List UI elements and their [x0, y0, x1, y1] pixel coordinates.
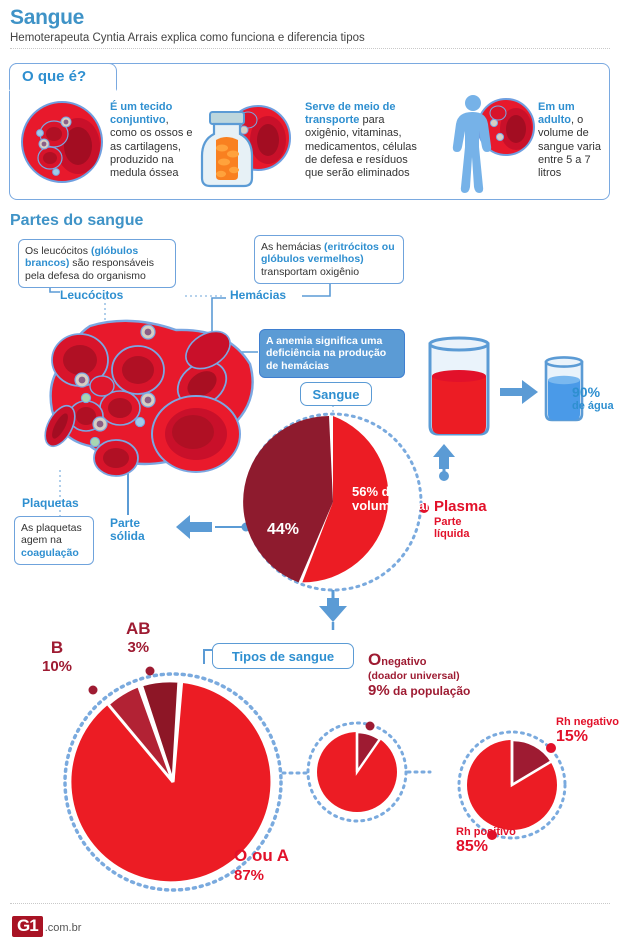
- label-type-oa: O ou A 87%: [234, 846, 289, 884]
- blood-volume-label-56: 56% do volume total: [352, 485, 432, 513]
- blood-volume-label-44: 44%: [267, 521, 299, 539]
- blood-cells-cluster-illustration: [30, 318, 266, 486]
- callout-erythrocytes: As hemácias (eritrócitos ou glóbulos ver…: [254, 235, 404, 284]
- label-o-negative-line3: 9% da população: [368, 683, 528, 699]
- label-rh-negative-value: 15%: [556, 728, 619, 746]
- label-type-ab-name: AB: [126, 619, 151, 639]
- pill-blood-types: Tipos de sangue: [212, 643, 354, 669]
- water-label: de água: [572, 400, 614, 412]
- blood-volume-value-56: 56% do volume total: [352, 484, 429, 513]
- callout-platelets: As plaquetas agem na coagulação: [14, 516, 94, 565]
- callout-anemia: A anemia significa uma deficiência na pr…: [259, 329, 405, 378]
- plasma-label: Plasma: [434, 498, 487, 515]
- label-rh-negative: Rh negativo 15%: [556, 716, 619, 746]
- label-type-b-name: B: [42, 638, 72, 658]
- callout-erythrocytes-post: transportam oxigênio: [261, 266, 359, 278]
- footer-divider: [10, 903, 610, 904]
- label-rh-positive-value: 85%: [456, 838, 516, 856]
- label-type-ab: AB 3%: [126, 619, 151, 656]
- callout-platelets-highlight: coagulação: [21, 547, 79, 559]
- label-rh-positive: Rh positivo 85%: [456, 826, 516, 856]
- callout-leukocytes: Os leucócitos (glóbulos brancos) são res…: [18, 239, 176, 288]
- g1-logo-domain: .com.br: [45, 922, 82, 934]
- label-type-oa-value: 87%: [234, 867, 289, 884]
- label-o-negative-line1: Onegativo: [368, 652, 528, 670]
- callout-platelets-pre: As plaquetas agem na: [21, 522, 82, 546]
- g1-logo[interactable]: G1.com.br: [12, 916, 81, 937]
- label-o-negative-suffix: da população: [390, 684, 471, 698]
- label-o-negative-paren: (doador universal): [368, 670, 528, 682]
- label-type-ab-value: 3%: [126, 639, 151, 656]
- plasma-label-group: Plasma Parte líquida: [434, 498, 487, 540]
- callout-leukocytes-pre: Os leucócitos: [25, 245, 91, 257]
- o-negative-pie: [316, 731, 398, 813]
- callout-erythrocytes-pre: As hemácias: [261, 241, 324, 253]
- label-type-b: B 10%: [42, 638, 72, 675]
- label-leukocytes: Leucócitos: [60, 288, 123, 302]
- label-platelets: Plaquetas: [22, 496, 79, 510]
- label-rh-negative-name: Rh negativo: [556, 716, 619, 728]
- label-o-negative-letter: O: [368, 650, 381, 669]
- rh-pie: [466, 739, 558, 831]
- g1-logo-mark: G1: [12, 916, 43, 937]
- label-o-negative: Onegativo (doador universal) 9% da popul…: [368, 652, 528, 699]
- label-type-b-value: 10%: [42, 658, 72, 675]
- label-type-oa-name: O ou A: [234, 846, 289, 866]
- label-erythrocytes: Hemácias: [230, 288, 286, 302]
- label-rh-positive-name: Rh positivo: [456, 826, 516, 838]
- plasma-sublabel: Parte líquida: [434, 516, 487, 540]
- label-o-negative-word: negativo: [381, 656, 426, 668]
- water-value: 90%: [572, 384, 614, 400]
- water-label-group: 90% de água: [572, 384, 614, 412]
- label-solid-part: Parte sólida: [110, 517, 145, 543]
- pill-blood: Sangue: [300, 382, 372, 406]
